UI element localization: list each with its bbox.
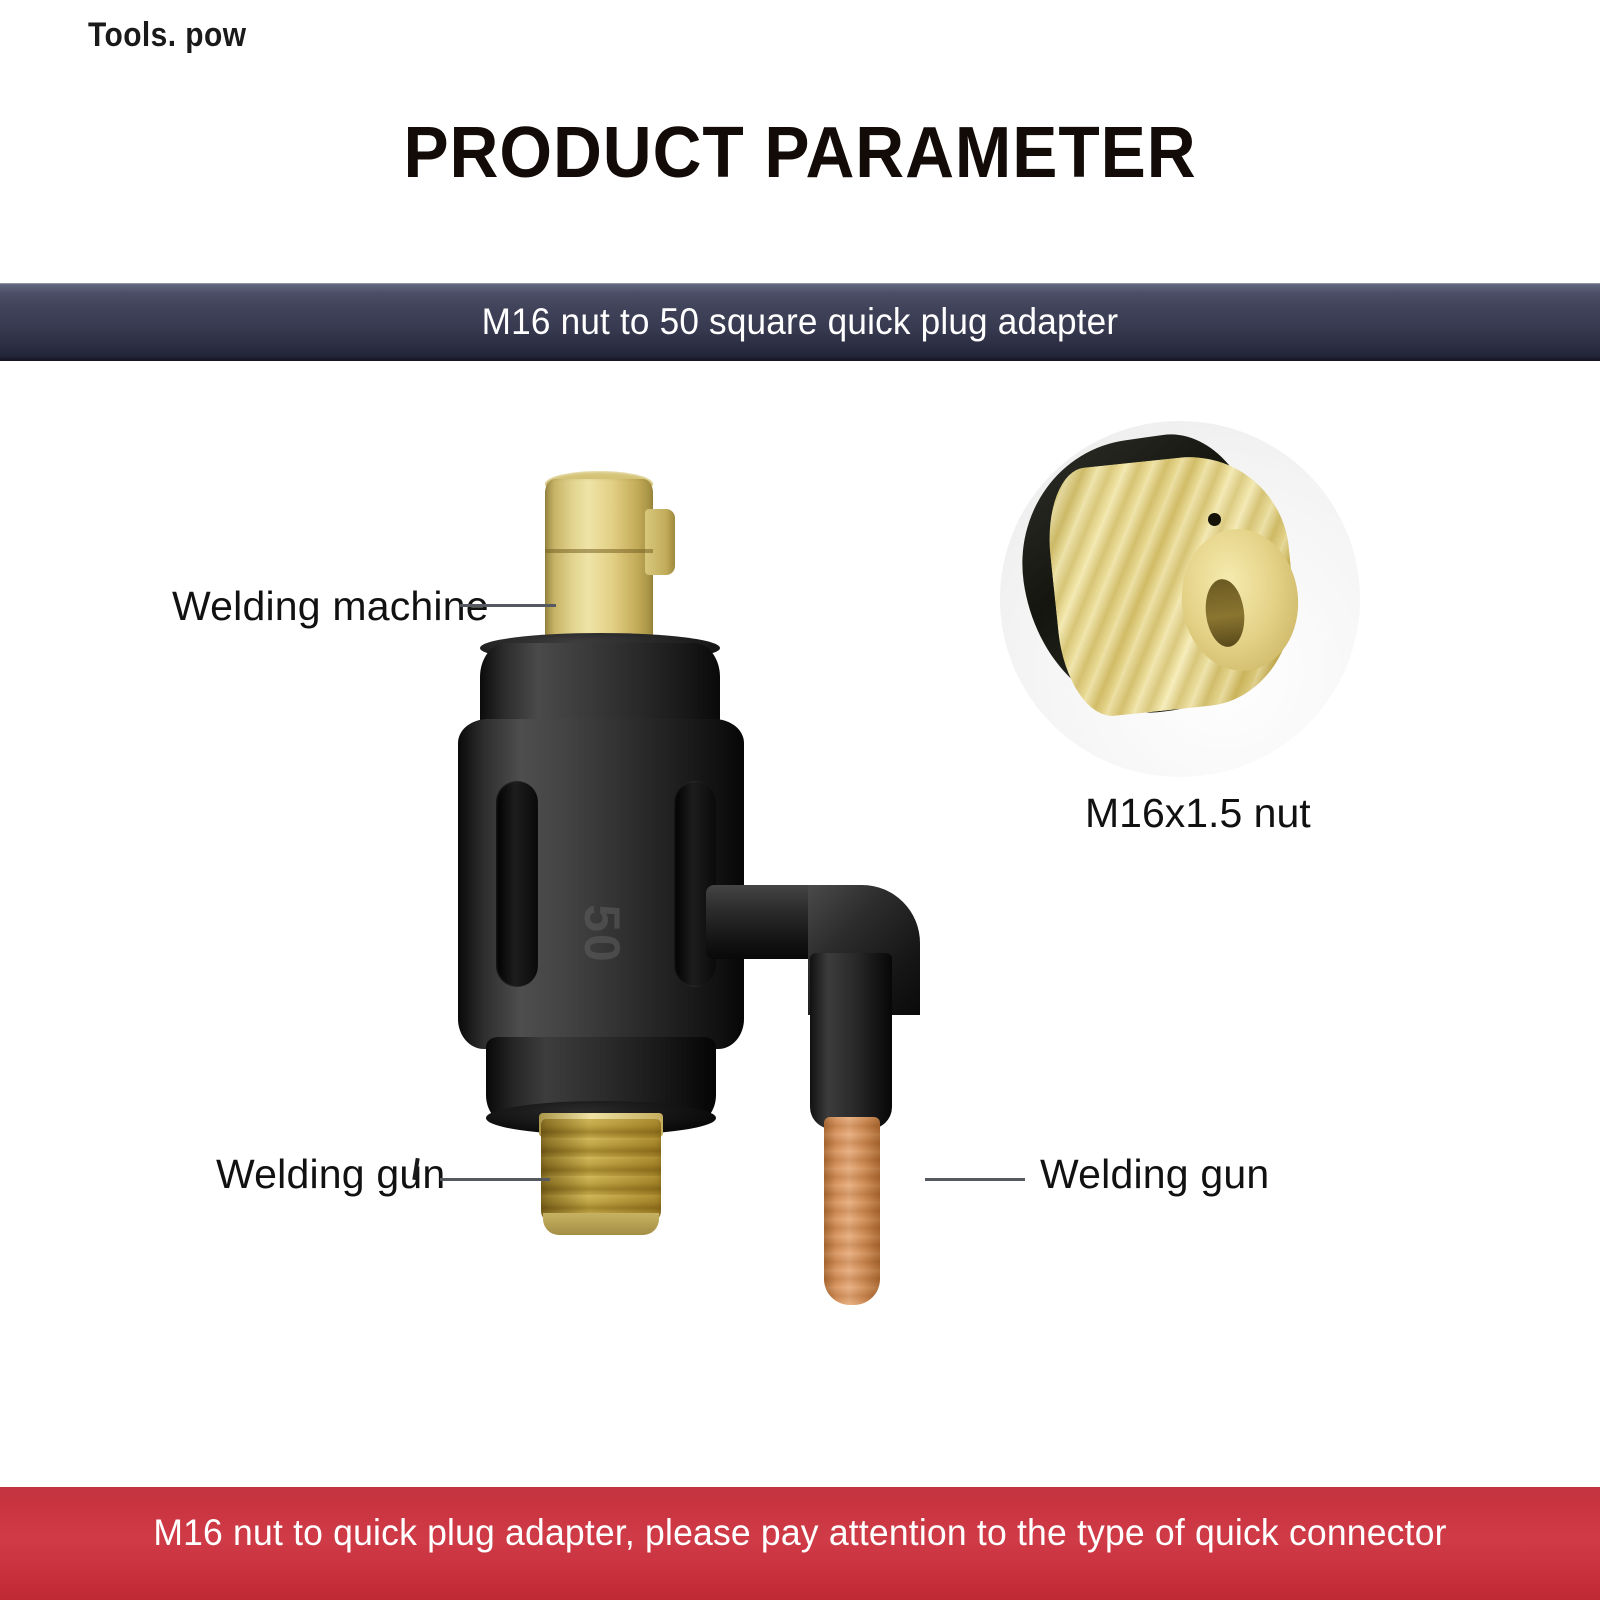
brass-plug-seam — [545, 549, 653, 553]
detail-inset-m16-nut — [1000, 421, 1360, 777]
body-emboss-label: 50 — [559, 902, 645, 966]
subtitle-banner-text: M16 nut to 50 square quick plug adapter — [40, 283, 1560, 361]
subtitle-banner: M16 nut to 50 square quick plug adapter — [0, 283, 1600, 361]
callout-label-welding-machine: Welding machine — [172, 583, 489, 630]
footer-note-text: M16 nut to quick plug adapter, please pa… — [32, 1487, 1568, 1579]
detail-pin-hole — [1208, 513, 1221, 526]
footer-note-banner: M16 nut to quick plug adapter, please pa… — [0, 1487, 1600, 1600]
brass-plug-key-tab — [645, 509, 675, 575]
copper-contact-pin — [824, 1117, 880, 1305]
callout-label-welding-gun-left: Welding gun — [216, 1151, 445, 1198]
leader-line-welding-machine — [460, 604, 556, 607]
callout-label-welding-gun-right: Welding gun — [1040, 1151, 1269, 1198]
product-image-stage: 50 — [0, 361, 1600, 1487]
brass-plug-pin — [545, 479, 653, 654]
leader-line-welding-gun-left — [440, 1178, 550, 1181]
threaded-stud-bottom — [543, 1213, 659, 1235]
product-photo-adapter: 50 — [420, 461, 1040, 1261]
grip-recess-left — [496, 781, 538, 987]
threaded-brass-stud — [541, 1119, 661, 1223]
rubber-elbow-downleg — [810, 953, 892, 1129]
leader-line-welding-gun-right — [925, 1178, 1025, 1181]
page-title: PRODUCT PARAMETER — [48, 112, 1552, 194]
detail-inset-caption: M16x1.5 nut — [1085, 790, 1311, 837]
brand-logo: Tools. pow — [88, 16, 246, 55]
